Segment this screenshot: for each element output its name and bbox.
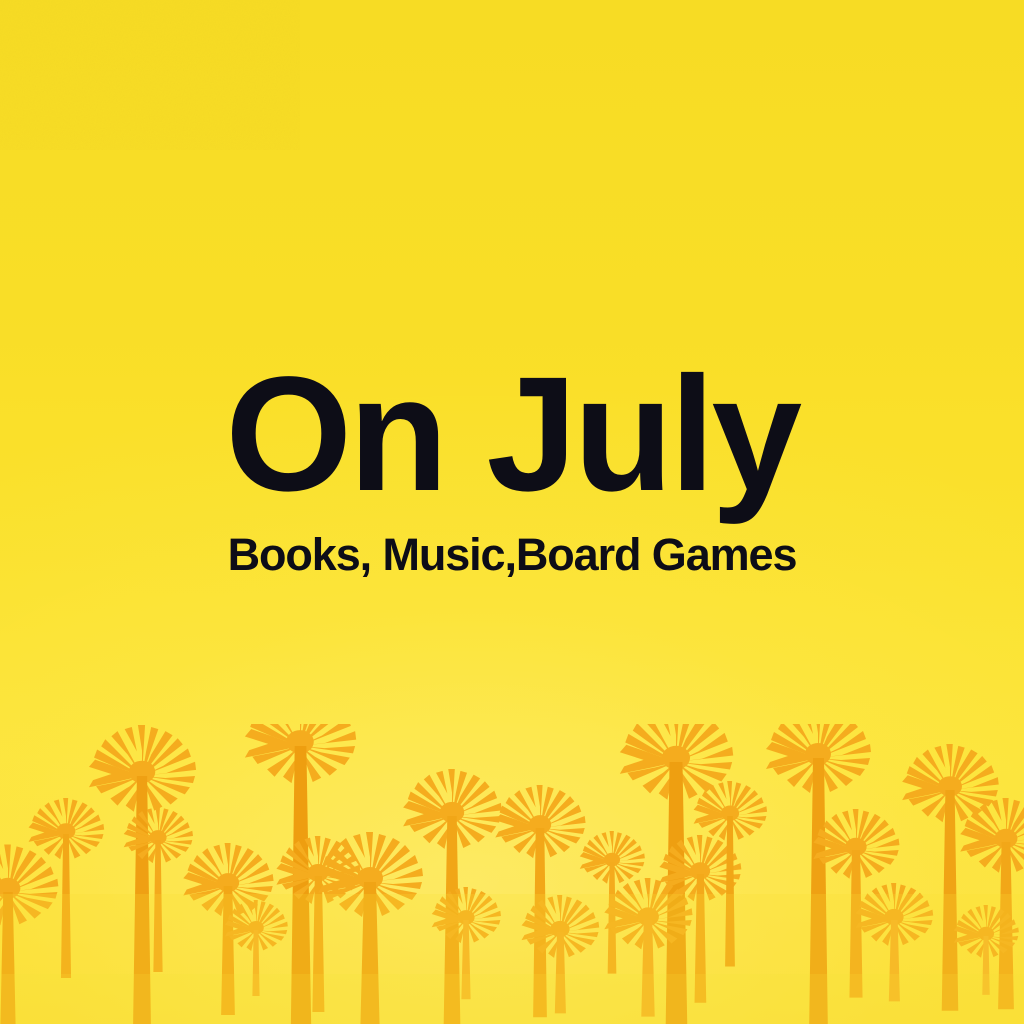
poster-canvas: On July Books, Music,Board Games <box>0 0 1024 1024</box>
page-title: On July <box>0 352 1024 515</box>
page-subtitle: Books, Music,Board Games <box>0 531 1024 578</box>
headline-block: On July Books, Music,Board Games <box>0 352 1024 578</box>
palm-tree-band <box>0 724 1024 1024</box>
